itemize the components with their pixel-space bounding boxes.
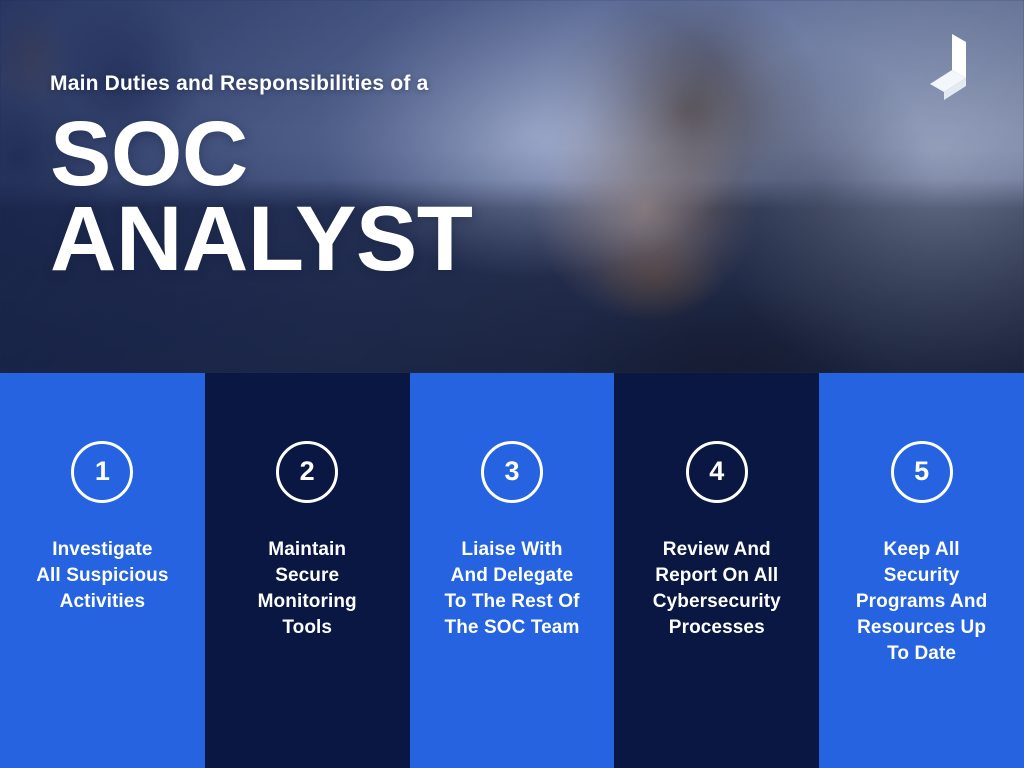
duty-text-line: Resources Up (827, 615, 1016, 641)
kicker-text: Main Duties and Responsibilities of a (50, 72, 473, 96)
duty-text-line: Activities (8, 589, 197, 615)
badge-number-label: 2 (300, 458, 315, 485)
hero-text-block: Main Duties and Responsibilities of a SO… (50, 72, 473, 281)
duties-columns: 1 Investigate All Suspicious Activities … (0, 373, 1024, 768)
duty-text-5: Keep All Security Programs And Resources… (819, 537, 1024, 667)
duty-column-1[interactable]: 1 Investigate All Suspicious Activities (0, 373, 205, 768)
number-badge-3: 3 (481, 441, 543, 503)
duty-text-line: Liaise With (418, 537, 607, 563)
duty-text-line: Maintain (213, 537, 402, 563)
duty-text-4: Review And Report On All Cybersecurity P… (614, 537, 819, 641)
duty-text-line: Secure (213, 563, 402, 589)
duty-column-2[interactable]: 2 Maintain Secure Monitoring Tools (205, 373, 410, 768)
duty-text-line: The SOC Team (418, 615, 607, 641)
duty-column-4[interactable]: 4 Review And Report On All Cybersecurity… (614, 373, 819, 768)
duty-text-line: And Delegate (418, 563, 607, 589)
duty-text-line: Tools (213, 615, 402, 641)
duty-column-3[interactable]: 3 Liaise With And Delegate To The Rest O… (410, 373, 615, 768)
duty-text-line: Processes (622, 615, 811, 641)
title-line-2: ANALYST (50, 197, 473, 282)
duty-text-line: Security (827, 563, 1016, 589)
duty-text-1: Investigate All Suspicious Activities (0, 537, 205, 615)
duty-text-line: All Suspicious (8, 563, 197, 589)
duty-text-line: Review And (622, 537, 811, 563)
duty-text-line: To The Rest Of (418, 589, 607, 615)
folded-ribbon-logo-icon (922, 30, 986, 108)
duty-text-line: To Date (827, 641, 1016, 667)
badge-number-label: 4 (709, 458, 724, 485)
badge-number-label: 5 (914, 458, 929, 485)
title-line-1: SOC (50, 112, 473, 197)
duty-text-line: Keep All (827, 537, 1016, 563)
duty-text-2: Maintain Secure Monitoring Tools (205, 537, 410, 641)
duty-column-5[interactable]: 5 Keep All Security Programs And Resourc… (819, 373, 1024, 768)
duty-text-line: Cybersecurity (622, 589, 811, 615)
soc-analyst-infographic: Main Duties and Responsibilities of a SO… (0, 0, 1024, 768)
number-badge-5: 5 (891, 441, 953, 503)
number-badge-2: 2 (276, 441, 338, 503)
hero-banner: Main Duties and Responsibilities of a SO… (0, 0, 1024, 373)
page-title: SOC ANALYST (50, 112, 473, 281)
badge-number-label: 3 (504, 458, 519, 485)
badge-number-label: 1 (95, 458, 110, 485)
number-badge-4: 4 (686, 441, 748, 503)
number-badge-1: 1 (71, 441, 133, 503)
duty-text-3: Liaise With And Delegate To The Rest Of … (410, 537, 615, 641)
duty-text-line: Investigate (8, 537, 197, 563)
duty-text-line: Programs And (827, 589, 1016, 615)
duty-text-line: Report On All (622, 563, 811, 589)
duty-text-line: Monitoring (213, 589, 402, 615)
